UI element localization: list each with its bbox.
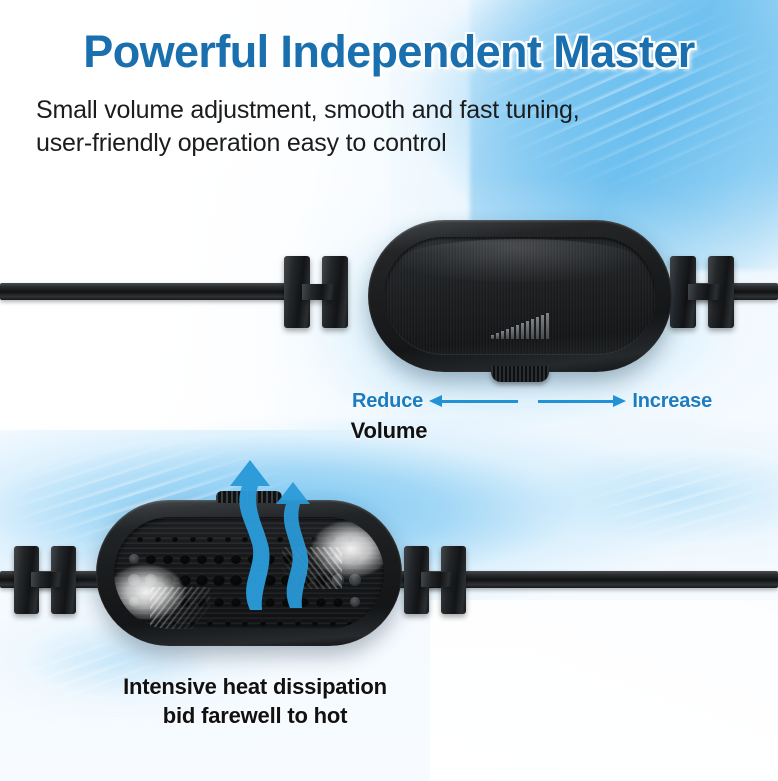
- vent-hole: [260, 620, 266, 626]
- vent-hole: [333, 597, 343, 607]
- vent-hole: [312, 620, 318, 626]
- vent-hole: [282, 597, 292, 607]
- device-face-panel: [384, 237, 656, 355]
- volume-wheel-icon[interactable]: [491, 366, 549, 382]
- page-subtitle: Small volume adjustment, smooth and fast…: [36, 94, 696, 160]
- heat-caption: Intensive heat dissipation bid farewell …: [40, 672, 470, 730]
- volume-bars-icon: [491, 313, 549, 339]
- volume-bar: [541, 315, 544, 339]
- volume-bar: [496, 333, 499, 339]
- strain-relief-right-top: [664, 256, 760, 328]
- vent-hole: [277, 620, 283, 626]
- page-title: Powerful Independent Master: [0, 26, 778, 78]
- volume-bar: [516, 325, 519, 339]
- volume-caption: Volume: [0, 418, 778, 444]
- background-streaks-band-right: [560, 440, 778, 570]
- vent-hole: [197, 554, 206, 563]
- vent-hole: [137, 620, 143, 626]
- arrow-left-icon: [429, 394, 522, 408]
- vent-hole: [248, 554, 257, 563]
- vent-hole: [146, 554, 155, 563]
- background-white-veil-bottom: [430, 600, 778, 781]
- strain-relief-right-bottom: [398, 546, 490, 614]
- cable-left-top: [0, 283, 300, 300]
- top-ridge-detail: [216, 491, 282, 503]
- strain-bridge: [421, 572, 452, 587]
- vent-hole: [277, 536, 283, 542]
- arrow-left-line: [441, 400, 518, 403]
- vent-hole: [242, 620, 248, 626]
- vent-hole: [350, 597, 360, 607]
- product-feature-poster: Powerful Independent Master Small volume…: [0, 0, 778, 781]
- strain-relief-left-top: [284, 256, 380, 328]
- vent-hole: [330, 620, 336, 626]
- reduce-label: Reduce: [352, 390, 423, 413]
- vent-hole: [247, 574, 259, 586]
- vent-hole: [214, 554, 223, 563]
- volume-bar: [501, 331, 504, 339]
- volume-bar: [536, 317, 539, 339]
- light-rays-right: [282, 547, 342, 589]
- vent-hole: [264, 574, 276, 586]
- vent-hole: [213, 574, 225, 586]
- vent-hole: [137, 536, 143, 542]
- vent-hole: [155, 536, 161, 542]
- heat-caption-line-2: bid farewell to hot: [40, 701, 470, 730]
- strain-bridge: [302, 284, 334, 300]
- strain-relief-left-bottom: [14, 546, 106, 614]
- vent-hole: [196, 574, 208, 586]
- volume-bar: [491, 335, 494, 339]
- volume-bar: [546, 313, 549, 339]
- volume-direction-row: Reduce Increase: [352, 388, 712, 414]
- vent-hole: [248, 597, 258, 607]
- highlight-sheen: [400, 239, 639, 281]
- vent-hole: [265, 597, 275, 607]
- vent-hole: [172, 536, 178, 542]
- vent-hole: [129, 554, 138, 563]
- vent-hole: [299, 597, 309, 607]
- vent-hole: [180, 554, 189, 563]
- volume-bar: [521, 323, 524, 339]
- vent-hole: [242, 536, 248, 542]
- arrow-right-head: [613, 395, 626, 407]
- vent-hole: [260, 536, 266, 542]
- vent-hole: [207, 536, 213, 542]
- vent-hole: [231, 554, 240, 563]
- vent-hole: [225, 536, 231, 542]
- vent-hole: [231, 597, 241, 607]
- vent-hole: [265, 554, 274, 563]
- increase-label: Increase: [632, 390, 712, 413]
- vent-hole: [163, 554, 172, 563]
- heat-dissipation-module: [96, 500, 402, 646]
- subtitle-line-1: Small volume adjustment, smooth and fast…: [36, 94, 696, 127]
- light-rays-left: [150, 587, 210, 629]
- volume-control-module: [368, 220, 672, 372]
- volume-bar: [526, 321, 529, 339]
- strain-bridge: [31, 572, 62, 587]
- vent-hole: [225, 620, 231, 626]
- strain-bridge: [688, 284, 720, 300]
- arrow-right-line: [538, 400, 615, 403]
- volume-bar: [511, 327, 514, 339]
- subtitle-line-2: user-friendly operation easy to control: [36, 127, 696, 160]
- vent-hole: [347, 620, 353, 626]
- vent-panel: [114, 517, 384, 629]
- vent-hole: [230, 574, 242, 586]
- volume-bar: [506, 329, 509, 339]
- vent-hole: [316, 597, 326, 607]
- arrow-right-icon: [534, 394, 627, 408]
- volume-bar: [531, 319, 534, 339]
- vent-hole: [214, 597, 224, 607]
- vent-hole: [190, 536, 196, 542]
- vent-hole: [295, 536, 301, 542]
- vent-hole: [295, 620, 301, 626]
- heat-caption-line-1: Intensive heat dissipation: [40, 672, 470, 701]
